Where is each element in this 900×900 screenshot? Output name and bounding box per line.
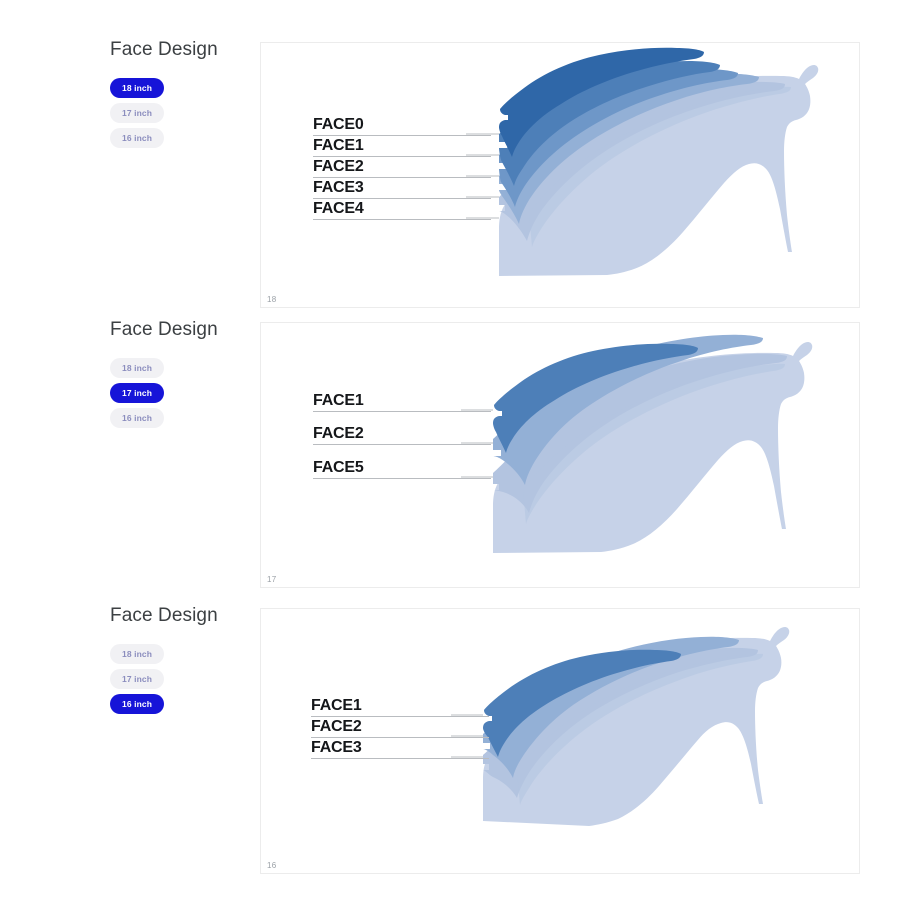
diameter-pill-group: 18 inch 17 inch 16 inch bbox=[110, 644, 250, 714]
chart-card: FACE1 FACE2 FACE3 16 bbox=[260, 608, 860, 874]
wheel-profile-chart bbox=[261, 323, 859, 587]
pill-18-inch[interactable]: 18 inch bbox=[110, 644, 164, 664]
page-title: Face Design bbox=[110, 604, 250, 628]
diameter-corner-label: 17 bbox=[267, 575, 277, 584]
face-design-panel-17: Face Design 18 inch 17 inch 16 inch bbox=[0, 318, 900, 590]
pill-16-inch[interactable]: 16 inch bbox=[110, 408, 164, 428]
controls-column: Face Design 18 inch 17 inch 16 inch bbox=[110, 318, 250, 428]
face-design-panel-18: Face Design 18 inch 17 inch 16 inch bbox=[0, 38, 900, 310]
diameter-pill-group: 18 inch 17 inch 16 inch bbox=[110, 78, 250, 148]
page-title: Face Design bbox=[110, 38, 250, 62]
face-label-FACE3[interactable]: FACE3 bbox=[313, 178, 491, 199]
controls-column: Face Design 18 inch 17 inch 16 inch bbox=[110, 38, 250, 148]
face-label-FACE4[interactable]: FACE4 bbox=[313, 199, 491, 220]
face-label-FACE2[interactable]: FACE2 bbox=[313, 424, 491, 445]
pill-17-inch[interactable]: 17 inch bbox=[110, 103, 164, 123]
face-label-FACE3[interactable]: FACE3 bbox=[311, 738, 489, 759]
chart-card: FACE1 FACE2 FACE5 17 bbox=[260, 322, 860, 588]
pill-16-inch[interactable]: 16 inch bbox=[110, 694, 164, 714]
face-label-FACE1[interactable]: FACE1 bbox=[313, 391, 491, 412]
pill-16-inch[interactable]: 16 inch bbox=[110, 128, 164, 148]
diameter-corner-label: 16 bbox=[267, 861, 277, 870]
face-label-FACE1[interactable]: FACE1 bbox=[313, 136, 491, 157]
face-design-panel-16: Face Design 18 inch 17 inch 16 inch bbox=[0, 604, 900, 876]
controls-column: Face Design 18 inch 17 inch 16 inch bbox=[110, 604, 250, 714]
page-root: Face Design 18 inch 17 inch 16 inch bbox=[0, 0, 900, 900]
face-label-FACE0[interactable]: FACE0 bbox=[313, 115, 491, 136]
face-label-FACE1[interactable]: FACE1 bbox=[311, 696, 489, 717]
face-label-FACE2[interactable]: FACE2 bbox=[313, 157, 491, 178]
face-label-FACE2[interactable]: FACE2 bbox=[311, 717, 489, 738]
pill-18-inch[interactable]: 18 inch bbox=[110, 78, 164, 98]
page-title: Face Design bbox=[110, 318, 250, 342]
diameter-corner-label: 18 bbox=[267, 295, 277, 304]
face-label-FACE5[interactable]: FACE5 bbox=[313, 458, 491, 479]
pill-18-inch[interactable]: 18 inch bbox=[110, 358, 164, 378]
diameter-pill-group: 18 inch 17 inch 16 inch bbox=[110, 358, 250, 428]
chart-card: FACE0 FACE1 FACE2 FACE3 FACE4 18 bbox=[260, 42, 860, 308]
pill-17-inch[interactable]: 17 inch bbox=[110, 669, 164, 689]
pill-17-inch[interactable]: 17 inch bbox=[110, 383, 164, 403]
